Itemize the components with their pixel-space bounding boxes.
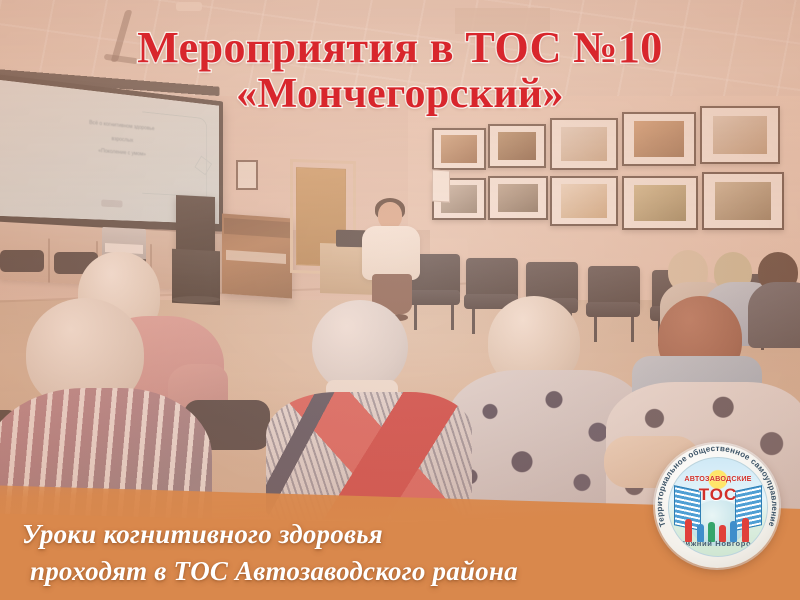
framed-photo [488,176,548,220]
side-chair [0,250,44,272]
framed-photo [488,124,546,168]
presenter-white-blouse [362,226,420,280]
tos-emblem-logo: Территориальное общественное самоуправле… [655,444,779,568]
framed-photo [700,106,780,164]
poster-caption-line-1: Уроки когнитивного здоровья [22,516,662,553]
framed-photo [432,128,486,170]
audience-member-beret-geometric-jacket [272,300,472,510]
framed-photo [702,172,784,230]
framed-photo [550,118,618,170]
photo-gallery-wall [432,118,800,268]
emblem-city: Нижний Новгород [669,539,767,548]
ceiling-lamp [176,2,202,11]
piano-lid [224,218,290,239]
slide-partner-logo [102,200,123,208]
poster-caption: Уроки когнитивного здоровья проходят в Т… [22,516,662,591]
emblem-inner-disc: АВТОЗАВОДСКИЕ ТОС Нижний Новгород [668,457,768,557]
emblem-acronym: ТОС [669,485,767,505]
paper-notice [432,169,450,202]
ceiling-pipe-bracket [104,54,139,65]
ceiling-vent [455,8,550,34]
framed-photo [622,112,696,166]
poster-canvas: Всё о когнитивном здоровье взрослых «Пок… [0,0,800,600]
presenter-head [378,202,402,229]
framed-photo [622,176,698,230]
framed-photo [550,176,618,226]
poster-caption-line-2: проходят в ТОС Автозаводского района [22,553,662,590]
framed-wall-sign [236,160,258,190]
emblem-headline: АВТОЗАВОДСКИЕ [669,474,767,483]
